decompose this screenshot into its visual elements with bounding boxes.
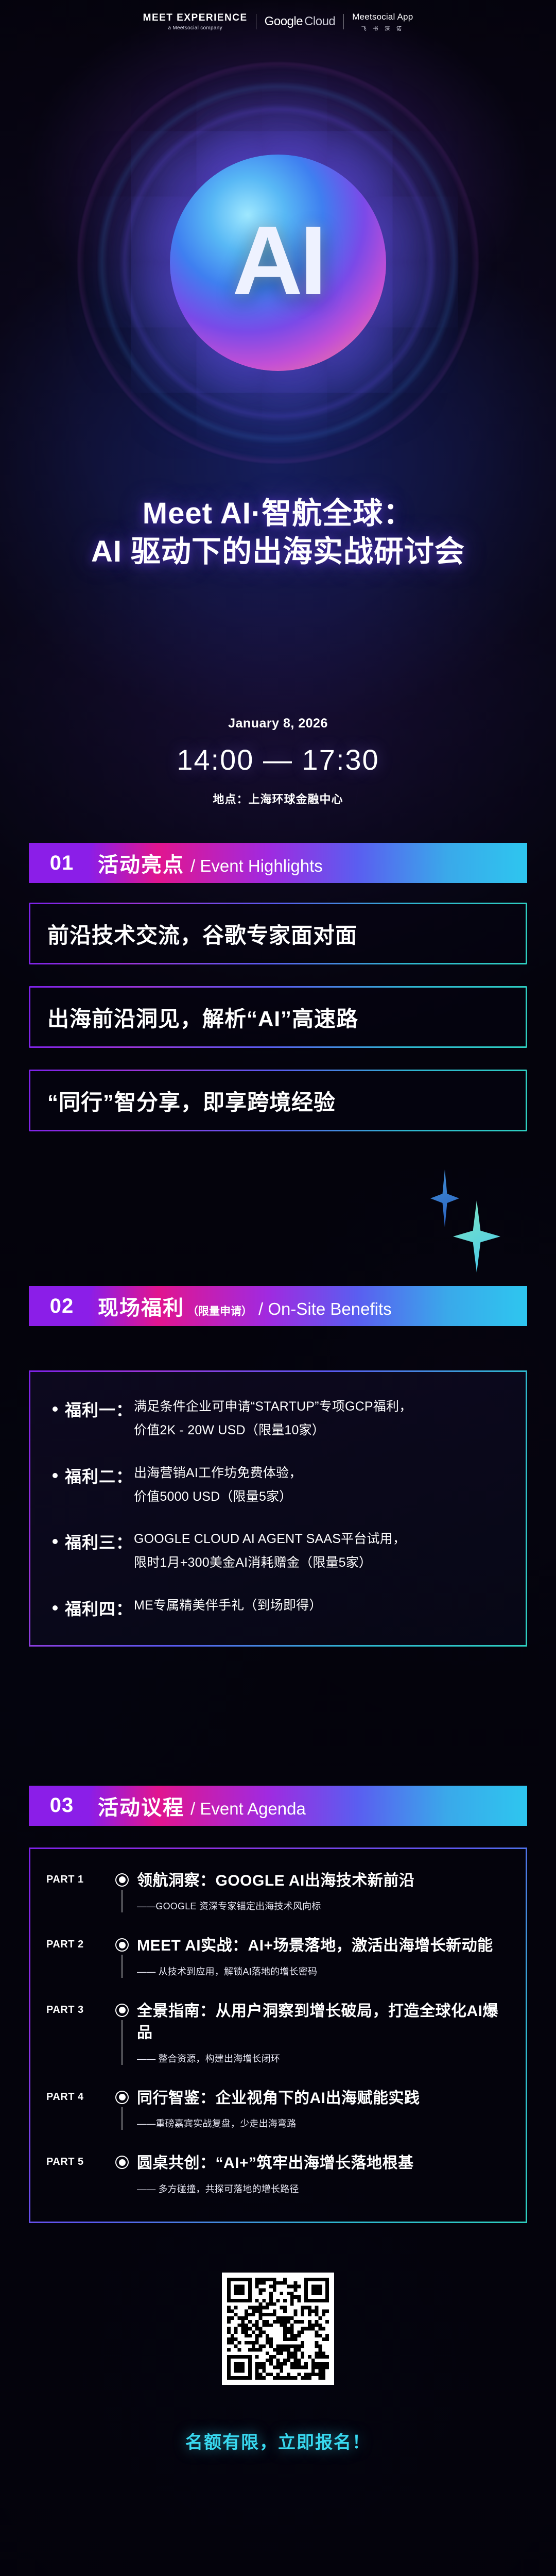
hero-title-block: Meet AI·智航全球： AI 驱动下的出海实战研讨会 bbox=[0, 495, 556, 571]
section-title-cn-01: 活动亮点 bbox=[98, 848, 184, 878]
agenda-timeline-marker bbox=[107, 2001, 137, 2065]
benefit-item: 福利四： ME专属精美伴手礼（到场即得） bbox=[49, 1596, 507, 1620]
agenda-part-label: PART 5 bbox=[46, 2153, 107, 2168]
logo-google-cloud: Google Cloud bbox=[256, 14, 344, 29]
agenda-timeline-marker bbox=[107, 2153, 137, 2195]
agenda-title: 同行智鉴：企业视角下的AI出海赋能实践 bbox=[137, 2088, 510, 2110]
highlight-text: 前沿技术交流，谷歌专家面对面 bbox=[29, 918, 357, 950]
logo-meetsocial-app: Meetsocial App 飞 书 深 诺 bbox=[344, 12, 421, 32]
agenda-title: 全景指南：从用户洞察到增长破局，打造全球化AI爆品 bbox=[137, 2001, 510, 2044]
highlight-text: “同行”智分享，即享跨境经验 bbox=[29, 1085, 336, 1116]
agenda-timeline-marker bbox=[107, 1870, 137, 1913]
benefit-line2: 限时1月+300美金AI消耗赠金（限量5家） bbox=[134, 1553, 406, 1572]
agenda-part-label: PART 2 bbox=[46, 1935, 107, 1951]
section-title-cn-02: 现场福利 bbox=[98, 1291, 184, 1321]
sparkle-icon-small bbox=[430, 1170, 459, 1227]
qr-code-image bbox=[227, 2278, 329, 2380]
benefit-item: 福利三： GOOGLE CLOUD AI AGENT SAAS平台试用， 限时1… bbox=[49, 1530, 507, 1572]
agenda-subtitle: ——GOOGLE 资深专家锚定出海技术风向标 bbox=[137, 1899, 510, 1912]
section-number-02: 02 bbox=[29, 1295, 95, 1318]
logo-meet-experience: MEET EXPERIENCE a Meetsocial company bbox=[135, 12, 256, 31]
benefit-label: 福利二： bbox=[65, 1464, 133, 1487]
bullet-icon bbox=[53, 1406, 58, 1412]
logo-meetsocial-app-name: Meetsocial App bbox=[352, 12, 413, 22]
event-location: 地点：上海环球金融中心 bbox=[0, 790, 556, 807]
section-number-01: 01 bbox=[29, 852, 95, 875]
highlight-text: 出海前沿洞见，解析“AI”高速路 bbox=[29, 1002, 358, 1033]
logo-meetsocial-app-cn: 飞 书 深 诺 bbox=[361, 24, 404, 32]
agenda-item: PART 5 圆桌共创：“AI+”筑牢出海增长落地根基 —— 多方碰撞，共探可落… bbox=[46, 2153, 510, 2195]
bullet-icon bbox=[53, 1605, 58, 1611]
agenda-subtitle: —— 多方碰撞，共探可落地的增长路径 bbox=[137, 2182, 510, 2195]
agenda-subtitle: ——重磅嘉宾实战复盘，少走出海弯路 bbox=[137, 2116, 510, 2130]
section-title-paren-02: （限量申请） bbox=[187, 1303, 252, 1318]
timeline-connector bbox=[121, 1890, 123, 1913]
benefit-line1: 出海营销AI工作坊免费体验， bbox=[134, 1464, 302, 1482]
timeline-dot-icon bbox=[115, 2004, 129, 2017]
benefits-panel: 福利一： 满足条件企业可申请“STARTUP”专项GCP福利， 价值2K - 2… bbox=[29, 1370, 527, 1647]
benefit-line2: 价值2K - 20W USD（限量10家） bbox=[134, 1421, 412, 1439]
benefit-label: 福利一： bbox=[65, 1397, 133, 1421]
section-header-01: 01 活动亮点 / Event Highlights bbox=[29, 843, 527, 883]
agenda-title: 圆桌共创：“AI+”筑牢出海增长落地根基 bbox=[137, 2153, 510, 2175]
benefit-item: 福利二： 出海营销AI工作坊免费体验， 价值5000 USD（限量5家） bbox=[49, 1464, 507, 1506]
agenda-item: PART 1 领航洞察：GOOGLE AI出海技术新前沿 ——GOOGLE 资深… bbox=[46, 1870, 510, 1913]
agenda-timeline-marker bbox=[107, 2088, 137, 2130]
section-title-en-03: / Event Agenda bbox=[190, 1799, 306, 1819]
section-header-02: 02 现场福利 （限量申请） / On-Site Benefits bbox=[29, 1286, 527, 1326]
event-date: January 8, 2026 bbox=[0, 716, 556, 731]
bullet-icon bbox=[53, 1473, 58, 1478]
timeline-dot-icon bbox=[115, 2091, 129, 2104]
highlight-item: “同行”智分享，即享跨境经验 bbox=[29, 1070, 527, 1131]
benefit-label: 福利三： bbox=[65, 1530, 133, 1553]
registration-qr-code[interactable] bbox=[222, 2273, 334, 2385]
agenda-panel: PART 1 领航洞察：GOOGLE AI出海技术新前沿 ——GOOGLE 资深… bbox=[29, 1848, 527, 2224]
cta-text: 名额有限，立即报名！ bbox=[0, 2428, 556, 2453]
highlight-item: 前沿技术交流，谷歌专家面对面 bbox=[29, 903, 527, 964]
section-title-cn-03: 活动议程 bbox=[98, 1791, 184, 1821]
benefit-line2: 价值5000 USD（限量5家） bbox=[134, 1487, 302, 1506]
timeline-connector bbox=[121, 2020, 123, 2065]
highlight-item: 出海前沿洞见，解析“AI”高速路 bbox=[29, 986, 527, 1048]
agenda-item: PART 4 同行智鉴：企业视角下的AI出海赋能实践 ——重磅嘉宾实战复盘，少走… bbox=[46, 2088, 510, 2130]
timeline-connector bbox=[121, 2107, 123, 2130]
timeline-dot-icon bbox=[115, 2156, 129, 2169]
agenda-item: PART 2 MEET AI实战：AI+场景落地，激活出海增长新动能 —— 从技… bbox=[46, 1935, 510, 1978]
benefit-line1: GOOGLE CLOUD AI AGENT SAAS平台试用， bbox=[134, 1530, 406, 1548]
partner-logo-bar: MEET EXPERIENCE a Meetsocial company Goo… bbox=[0, 7, 556, 36]
agenda-subtitle: —— 从技术到应用，解锁AI落地的增长密码 bbox=[137, 1964, 510, 1978]
sparkle-shape bbox=[453, 1200, 500, 1273]
sparkle-shape bbox=[430, 1170, 459, 1227]
bullet-icon bbox=[53, 1539, 58, 1544]
section-title-en-01: / Event Highlights bbox=[190, 856, 323, 876]
benefit-line1: 满足条件企业可申请“STARTUP”专项GCP福利， bbox=[134, 1397, 412, 1416]
section-header-03: 03 活动议程 / Event Agenda bbox=[29, 1786, 527, 1826]
logo-meet-experience-tagline: a Meetsocial company bbox=[168, 25, 222, 31]
timeline-connector bbox=[121, 1955, 123, 1978]
logo-google-word: Google bbox=[265, 14, 303, 29]
hero-title-line1: Meet AI·智航全球： bbox=[0, 495, 556, 533]
benefit-label: 福利四： bbox=[65, 1596, 133, 1620]
event-time: 14:00 — 17:30 bbox=[0, 743, 556, 776]
logo-meet-experience-name: MEET EXPERIENCE bbox=[143, 12, 248, 24]
hero-title-line2: AI 驱动下的出海实战研讨会 bbox=[0, 533, 556, 571]
highlights-list: 前沿技术交流，谷歌专家面对面 出海前沿洞见，解析“AI”高速路 “同行”智分享，… bbox=[29, 903, 527, 1131]
agenda-item: PART 3 全景指南：从用户洞察到增长破局，打造全球化AI爆品 —— 整合资源… bbox=[46, 2001, 510, 2065]
agenda-timeline-marker bbox=[107, 1935, 137, 1978]
agenda-part-label: PART 4 bbox=[46, 2088, 107, 2103]
timeline-connector bbox=[121, 2172, 123, 2195]
timeline-dot-icon bbox=[115, 1873, 129, 1887]
agenda-title: 领航洞察：GOOGLE AI出海技术新前沿 bbox=[137, 1870, 510, 1892]
agenda-part-label: PART 3 bbox=[46, 2001, 107, 2016]
agenda-subtitle: —— 整合资源，构建出海增长闭环 bbox=[137, 2052, 510, 2065]
section-number-03: 03 bbox=[29, 1794, 95, 1817]
logo-cloud-word: Cloud bbox=[304, 14, 335, 29]
benefit-line1: ME专属精美伴手礼（到场即得） bbox=[134, 1596, 322, 1615]
agenda-title: MEET AI实战：AI+场景落地，激活出海增长新动能 bbox=[137, 1935, 510, 1957]
timeline-dot-icon bbox=[115, 1938, 129, 1952]
agenda-part-label: PART 1 bbox=[46, 1870, 107, 1886]
sparkle-icon-large bbox=[453, 1200, 500, 1273]
section-title-en-02: / On-Site Benefits bbox=[258, 1299, 392, 1319]
benefit-item: 福利一： 满足条件企业可申请“STARTUP”专项GCP福利， 价值2K - 2… bbox=[49, 1397, 507, 1440]
